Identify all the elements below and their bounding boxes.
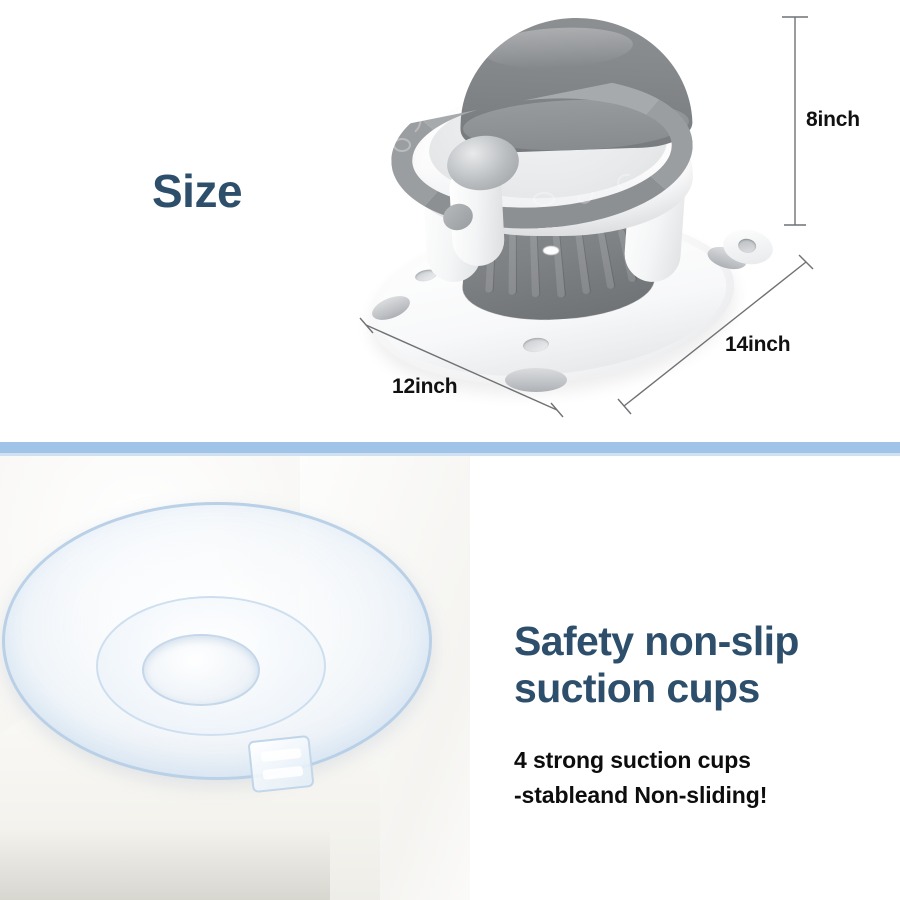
suction-cup-release-tab (247, 735, 314, 793)
suction-subtitle-line-2: -stableand Non-sliding! (514, 782, 767, 808)
dimension-tick-12-a (360, 318, 373, 333)
dimension-label-depth: 14inch (725, 333, 790, 357)
suction-cup-panel: Safety non-slip suction cups 4 strong su… (0, 456, 900, 900)
suction-title-line-1: Safety non-slip (514, 618, 799, 664)
suction-copy-block: Safety non-slip suction cups 4 strong su… (508, 456, 900, 900)
suction-cup-photo (0, 456, 470, 900)
suction-subtitle-line-1: 4 strong suction cups (514, 747, 751, 773)
dimension-tick-12-b (551, 403, 563, 417)
panel-divider (0, 442, 900, 453)
suction-title: Safety non-slip suction cups (514, 618, 900, 711)
dimension-label-width: 12inch (392, 375, 457, 399)
dimension-label-height: 8inch (806, 108, 860, 132)
dimension-tick-14-b (799, 255, 813, 269)
suction-subtitle: 4 strong suction cups -stableand Non-sli… (514, 743, 900, 812)
size-panel: Size (0, 0, 900, 442)
suction-title-line-2: suction cups (514, 665, 760, 711)
infographic-page: Size (0, 0, 900, 900)
suction-cup-hub (142, 634, 260, 706)
photo-shadow (0, 828, 330, 900)
